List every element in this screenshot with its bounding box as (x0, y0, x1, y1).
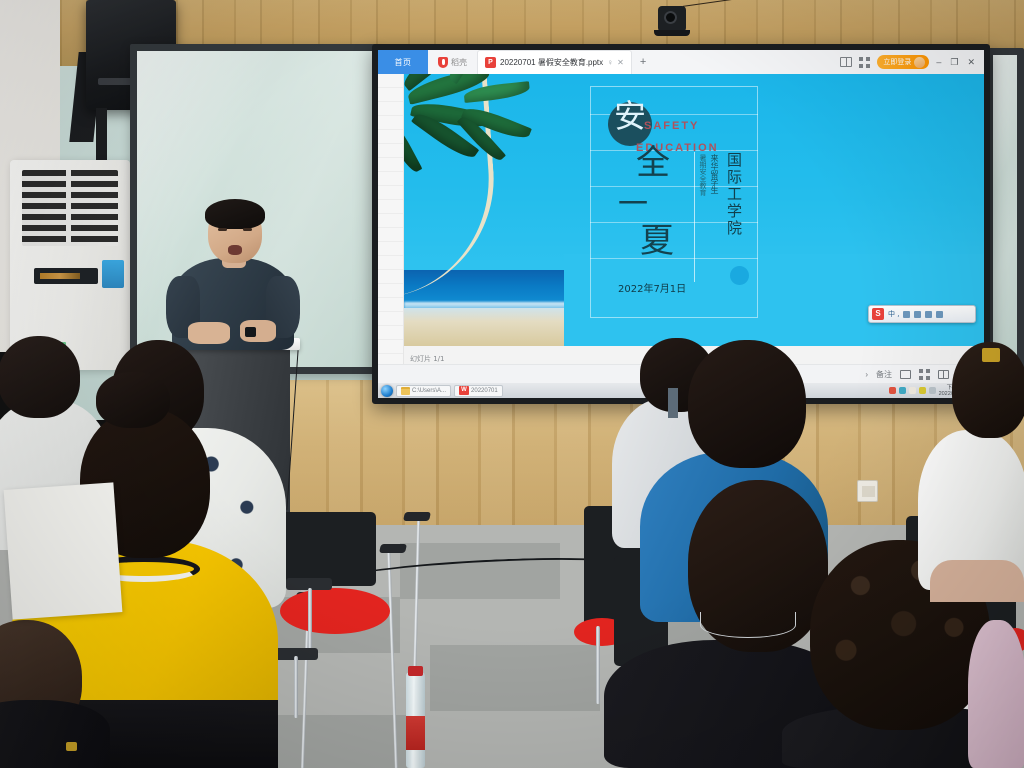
folder-icon (401, 387, 410, 395)
mic-stand-mid-head (379, 544, 407, 553)
ime-skin-icon[interactable] (925, 311, 932, 318)
wps-tab-bar: 首页 稻壳 P 20220701 暑假安全教育.pptx ♀ ✕ + 立即登录 (378, 50, 984, 74)
slide-thumbnail-pane[interactable] (378, 74, 404, 364)
ac-energy-label (102, 260, 124, 288)
view-sorter-icon[interactable] (919, 369, 930, 380)
tray-icon-3[interactable] (909, 387, 916, 394)
hair-clip (982, 348, 1000, 362)
app-grid-icon[interactable] (859, 57, 870, 68)
taskbar-item-explorer-label: C:\Users\A... (412, 388, 446, 394)
water-bottle-cap (408, 666, 423, 676)
restore-button[interactable]: ❐ (950, 57, 960, 68)
lanyard (668, 388, 678, 418)
presenter-mouth (228, 245, 242, 255)
tray-icon-1[interactable] (889, 387, 896, 394)
tray-icon-5[interactable] (929, 387, 936, 394)
close-button[interactable]: ✕ (967, 57, 977, 68)
view-normal-icon[interactable] (900, 370, 911, 379)
minimize-button[interactable]: – (936, 57, 943, 67)
power-outlet-icon (857, 480, 878, 502)
palm-tree-photo (404, 74, 564, 346)
pptx-icon: P (485, 57, 496, 68)
taskbar-item-wps-label: 20220701 (471, 388, 498, 394)
wristwatch (245, 327, 256, 337)
sogou-logo-icon: S (872, 308, 884, 320)
presenter-hair (205, 199, 265, 229)
necklace (700, 612, 796, 638)
slide-date: 2022年7月1日 (618, 280, 686, 295)
start-button-icon[interactable] (381, 385, 393, 397)
docer-icon (438, 57, 448, 68)
close-tab-icon[interactable]: ✕ (617, 58, 624, 67)
slide-vertical-rule (694, 152, 695, 282)
pin-tab-icon[interactable]: ♀ (607, 58, 613, 67)
gold-clip (66, 742, 77, 751)
document-tab-title: 20220701 暑假安全教育.pptx (500, 57, 603, 68)
docer-entry[interactable]: 稻壳 (428, 57, 477, 68)
wall-camera-icon (658, 6, 686, 32)
ime-emoji-icon[interactable] (914, 311, 921, 318)
whiteboard-right (986, 48, 1024, 378)
taskbar-item-wps[interactable]: W 20220701 (454, 385, 503, 397)
slide-accent-dot (730, 266, 749, 285)
next-slide-icon[interactable]: › (865, 370, 868, 379)
ac-display-panel (34, 268, 98, 284)
docer-label: 稻壳 (451, 57, 467, 68)
paper-sheet (4, 482, 123, 619)
tray-icon-4[interactable] (919, 387, 926, 394)
input-method-toolbar[interactable]: S 中 , (868, 305, 976, 323)
mic-stand-left-head (403, 512, 431, 521)
view-reading-icon[interactable] (938, 370, 949, 379)
wps-icon: W (459, 386, 469, 395)
slide-title-char-1: 安 (614, 100, 646, 132)
taskbar-item-explorer[interactable]: C:\Users\A... (396, 385, 451, 397)
home-button[interactable]: 首页 (378, 50, 428, 74)
water-bottle-label (406, 716, 425, 750)
ime-keyboard-icon[interactable] (903, 311, 910, 318)
login-label: 立即登录 (883, 57, 911, 67)
avatar (914, 57, 925, 68)
arm (930, 560, 1024, 602)
lecture-hall-photo: 首页 稻壳 P 20220701 暑假安全教育.pptx ♀ ✕ + 立即登录 (0, 0, 1024, 768)
tray-icon-2[interactable] (899, 387, 906, 394)
ime-mode-label[interactable]: 中 , (888, 309, 899, 319)
window-controls-group: 立即登录 – ❐ ✕ (840, 55, 984, 69)
split-view-icon[interactable] (840, 57, 852, 67)
slide-title-char-4: 夏 (640, 224, 674, 258)
ac-grill-icon (22, 170, 118, 246)
slide-subtitle-safety: SAFETY (644, 120, 699, 132)
slide-title-char-3: 一 (618, 190, 648, 220)
slide-counter: 幻灯片 1/1 (410, 354, 445, 364)
slide-organization: 国际工学院 (724, 152, 745, 237)
slide-title-char-2: 全 (636, 146, 670, 180)
slide-vertical-sub-2: 暑期安全教育 (698, 154, 708, 196)
new-tab-button[interactable]: + (632, 56, 654, 68)
chair-leg-2 (294, 656, 298, 718)
ime-menu-icon[interactable] (936, 311, 943, 318)
chair-leg-3 (596, 626, 600, 704)
notes-label[interactable]: 备注 (876, 369, 892, 380)
chair-seat-1 (280, 588, 390, 634)
document-tab[interactable]: P 20220701 暑假安全教育.pptx ♀ ✕ (477, 50, 632, 74)
login-button[interactable]: 立即登录 (877, 55, 929, 69)
slide-vertical-sub-1: 来华留学生 (709, 154, 720, 194)
camera-mount (654, 30, 690, 36)
chair-leg-1 (308, 588, 312, 654)
